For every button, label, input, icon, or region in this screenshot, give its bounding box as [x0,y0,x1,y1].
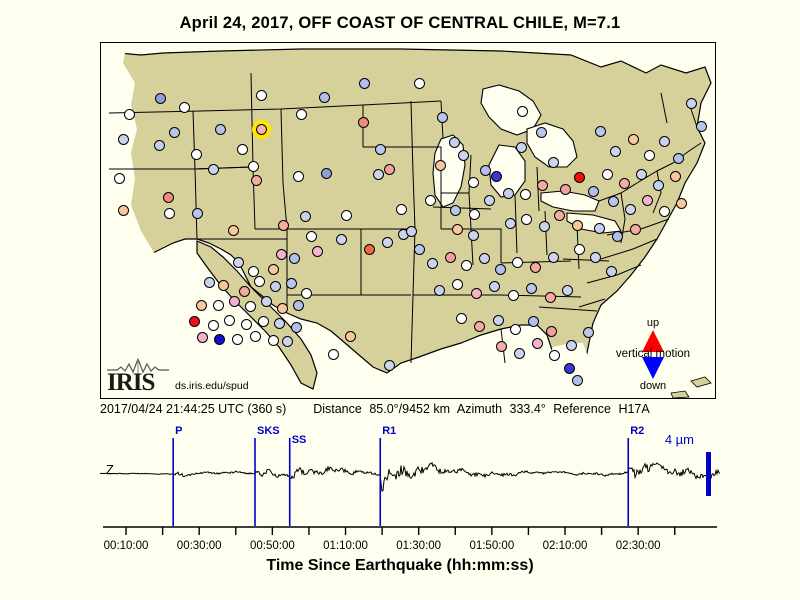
station-marker[interactable] [256,90,267,101]
phase-label-sks: SKS [257,425,280,437]
station-marker[interactable] [396,204,407,215]
station-marker[interactable] [608,196,619,207]
station-marker[interactable] [610,146,621,157]
reference-value: H17A [618,402,649,416]
station-marker[interactable] [572,220,583,231]
station-marker[interactable] [124,109,135,120]
station-marker[interactable] [546,326,557,337]
station-marker[interactable] [286,278,297,289]
station-marker[interactable] [196,300,207,311]
station-marker[interactable] [517,106,528,117]
origin-time: 2017/04/24 21:44:25 UTC (360 s) [100,402,286,416]
station-marker[interactable] [301,288,312,299]
station-marker[interactable] [437,112,448,123]
station-marker[interactable] [549,350,560,361]
station-marker[interactable] [493,315,504,326]
station-marker[interactable] [659,136,670,147]
station-marker[interactable] [653,180,664,191]
station-marker[interactable] [628,134,639,145]
station-marker[interactable] [375,144,386,155]
station-marker[interactable] [484,195,495,206]
station-marker[interactable] [291,322,302,333]
station-marker[interactable] [554,210,565,221]
station-marker[interactable] [434,285,445,296]
station-marker[interactable] [536,127,547,138]
station-marker[interactable] [595,126,606,137]
station-marker[interactable] [686,98,697,109]
station-marker[interactable] [114,173,125,184]
station-marker[interactable] [282,336,293,347]
station-marker[interactable] [625,204,636,215]
station-marker[interactable] [164,208,175,219]
station-marker[interactable] [468,177,479,188]
station-marker[interactable] [328,349,339,360]
station-marker[interactable] [496,341,507,352]
station-marker[interactable] [384,360,395,371]
station-marker[interactable] [364,244,375,255]
station-marker[interactable] [564,363,575,374]
station-marker[interactable] [293,300,304,311]
station-marker[interactable] [526,283,537,294]
station-marker[interactable] [435,160,446,171]
station-marker[interactable] [514,348,525,359]
station-marker[interactable] [270,281,281,292]
station-marker[interactable] [248,266,259,277]
amplitude-scale-bar [706,452,711,496]
station-marker[interactable] [532,338,543,349]
station-marker[interactable] [588,186,599,197]
station-marker[interactable] [414,244,425,255]
vertical-motion-legend: up vertical motion down [601,317,705,392]
station-marker[interactable] [495,264,506,275]
axis-tick-label: 00:10:00 [104,540,149,552]
station-marker[interactable] [676,198,687,209]
station-marker[interactable] [218,280,229,291]
station-marker[interactable] [491,171,502,182]
station-marker[interactable] [189,316,200,327]
station-marker[interactable] [208,164,219,175]
station-marker[interactable] [445,252,456,263]
axis-tick-label: 01:10:00 [323,540,368,552]
station-marker[interactable] [169,127,180,138]
station-marker[interactable] [545,292,556,303]
station-marker[interactable] [562,285,573,296]
station-marker[interactable] [229,296,240,307]
station-marker[interactable] [583,327,594,338]
station-marker[interactable] [373,169,384,180]
station-marker[interactable] [659,206,670,217]
station-marker[interactable] [574,244,585,255]
axis-tick-label: 01:30:00 [396,540,441,552]
axis-ticks [100,526,720,540]
station-marker[interactable] [237,144,248,155]
component-label: Z [106,462,114,477]
iris-url-text: ds.iris.edu/spud [175,380,249,394]
station-marker[interactable] [406,226,417,237]
station-marker[interactable] [276,249,287,260]
station-marker[interactable] [215,124,226,135]
page-title: April 24, 2017, OFF COAST OF CENTRAL CHI… [0,14,800,33]
station-marker[interactable] [696,121,707,132]
station-marker[interactable] [574,172,585,183]
phase-label-r1: R1 [382,425,396,437]
legend-title: vertical motion [601,348,705,361]
station-marker[interactable] [471,288,482,299]
station-marker[interactable] [345,331,356,342]
station-marker[interactable] [572,375,583,386]
station-marker[interactable] [278,220,289,231]
station-marker[interactable] [197,332,208,343]
station-marker[interactable] [425,195,436,206]
station-marker[interactable] [268,335,279,346]
station-marker[interactable] [228,225,239,236]
station-marker[interactable] [341,210,352,221]
station-marker[interactable] [537,180,548,191]
axis-tick-label: 02:10:00 [543,540,588,552]
station-marker[interactable] [474,321,485,332]
station-marker[interactable] [213,300,224,311]
azimuth-value: 333.4° [510,402,546,416]
station-marker[interactable] [312,246,323,257]
axis-tick-label: 01:50:00 [469,540,514,552]
station-marker[interactable] [258,316,269,327]
station-marker[interactable] [319,92,330,103]
station-marker[interactable] [250,331,261,342]
station-marker[interactable] [241,319,252,330]
station-marker[interactable] [232,334,243,345]
station-marker[interactable] [594,223,605,234]
station-marker[interactable] [208,320,219,331]
station-marker[interactable] [382,237,393,248]
phase-label-ss: SS [292,434,307,446]
station-marker[interactable] [521,214,532,225]
station-marker[interactable] [233,257,244,268]
station-marker[interactable] [239,286,250,297]
event-info-line: 2017/04/24 21:44:25 UTC (360 s) Distance… [100,402,716,416]
station-marker[interactable] [469,209,480,220]
station-marker[interactable] [505,218,516,229]
station-marker[interactable] [154,140,165,151]
station-marker[interactable] [516,142,527,153]
station-marker[interactable] [384,164,395,175]
station-marker[interactable] [300,211,311,222]
station-marker[interactable] [118,134,129,145]
station-marker[interactable] [277,303,288,314]
reference-label: Reference [553,402,611,416]
station-marker[interactable] [248,161,259,172]
station-marker[interactable] [358,117,369,128]
station-marker[interactable] [644,150,655,161]
station-marker[interactable] [245,301,256,312]
station-marker[interactable] [321,168,332,179]
station-marker[interactable] [479,253,490,264]
station-marker[interactable] [489,281,500,292]
station-marker[interactable] [510,324,521,335]
station-marker[interactable] [612,231,623,242]
station-marker[interactable] [274,318,285,329]
station-marker[interactable] [452,279,463,290]
station-marker[interactable] [630,224,641,235]
station-marker[interactable] [336,234,347,245]
station-marker[interactable] [261,296,272,307]
station-marker[interactable] [163,192,174,203]
station-marker[interactable] [251,175,262,186]
station-marker[interactable] [528,316,539,327]
station-marker[interactable] [512,257,523,268]
station-marker[interactable] [548,157,559,168]
time-axis: 00:10:0000:30:0000:50:0001:10:0001:30:00… [100,526,720,556]
station-marker[interactable] [427,258,438,269]
station-marker[interactable] [118,205,129,216]
station-marker[interactable] [673,153,684,164]
legend-down-label: down [601,380,705,392]
station-marker[interactable] [508,290,519,301]
phase-marker-lines [173,438,628,526]
station-marker[interactable] [642,195,653,206]
station-marker[interactable] [548,252,559,263]
station-marker[interactable] [450,205,461,216]
station-marker[interactable] [254,276,265,287]
station-marker[interactable] [204,277,215,288]
station-marker[interactable] [268,264,279,275]
station-marker[interactable] [636,169,647,180]
seismogram-trace [100,424,720,529]
station-marker[interactable] [449,137,460,148]
distance-label: Distance [313,402,362,416]
station-marker[interactable] [520,189,531,200]
station-marker[interactable] [191,149,202,160]
station-marker[interactable] [566,340,577,351]
station-marker[interactable] [456,313,467,324]
station-marker[interactable] [155,93,166,104]
station-marker[interactable] [670,171,681,182]
station-marker[interactable] [503,188,514,199]
iris-logo: IRIS ds.iris.edu/spud [107,358,249,395]
station-marker[interactable] [606,266,617,277]
station-marker[interactable] [458,150,469,161]
station-marker[interactable] [214,334,225,345]
station-marker[interactable] [602,169,613,180]
station-marker[interactable] [192,208,203,219]
station-marker[interactable] [296,109,307,120]
station-marker[interactable] [539,221,550,232]
reference-station-marker[interactable] [256,124,267,135]
amplitude-label: 4 µm [665,432,694,447]
station-marker[interactable] [530,262,541,273]
station-map[interactable]: IRIS ds.iris.edu/spud up vertical motion… [100,42,716,399]
station-marker[interactable] [560,184,571,195]
axis-title: Time Since Earthquake (hh:mm:ss) [0,557,800,575]
station-marker[interactable] [461,260,472,271]
station-marker[interactable] [293,171,304,182]
phase-label-r2: R2 [630,425,644,437]
phase-label-p: P [175,425,182,437]
station-marker[interactable] [619,178,630,189]
legend-up-label: up [601,317,705,329]
station-marker[interactable] [480,165,491,176]
station-marker[interactable] [224,315,235,326]
axis-tick-label: 00:30:00 [177,540,222,552]
axis-tick-label: 02:30:00 [616,540,661,552]
station-marker[interactable] [468,230,479,241]
station-marker[interactable] [306,231,317,242]
axis-tick-label: 00:50:00 [250,540,295,552]
station-marker[interactable] [359,78,370,89]
distance-value: 85.0°/9452 km [369,402,450,416]
station-marker[interactable] [452,224,463,235]
station-marker[interactable] [590,252,601,263]
iris-wordmark: IRIS [107,372,169,395]
station-marker[interactable] [414,78,425,89]
azimuth-label: Azimuth [457,402,502,416]
seismogram-panel[interactable]: Z 4 µm PSKSSSR1R2 [100,424,720,529]
station-marker[interactable] [289,253,300,264]
station-marker[interactable] [179,102,190,113]
